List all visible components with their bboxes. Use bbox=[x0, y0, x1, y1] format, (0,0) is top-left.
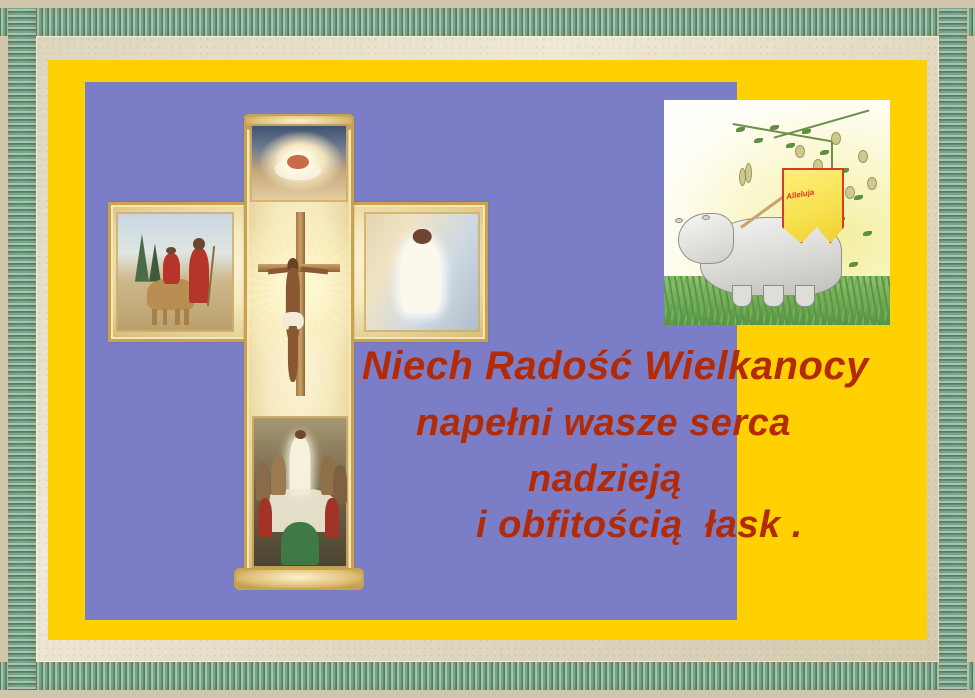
scene-resurrection-icon bbox=[364, 212, 480, 332]
frame-stripe-left bbox=[8, 8, 36, 690]
cross-bottom-finial bbox=[234, 568, 364, 590]
paschal-lamb-picture: Alleluja bbox=[664, 100, 890, 325]
gold-cross-illustration bbox=[108, 116, 488, 586]
scene-nativity-icon bbox=[250, 124, 348, 202]
scene-crucifixion-icon bbox=[248, 208, 350, 408]
frame-stripe-top bbox=[0, 8, 975, 36]
easter-greeting-card: Alleluja Niech Radość Wielkanocy napełni… bbox=[0, 0, 975, 698]
scene-last-supper-icon bbox=[252, 416, 348, 568]
scene-flight-into-egypt-icon bbox=[116, 212, 234, 332]
frame-stripe-right bbox=[939, 8, 967, 690]
frame-stripe-bottom bbox=[0, 662, 975, 690]
